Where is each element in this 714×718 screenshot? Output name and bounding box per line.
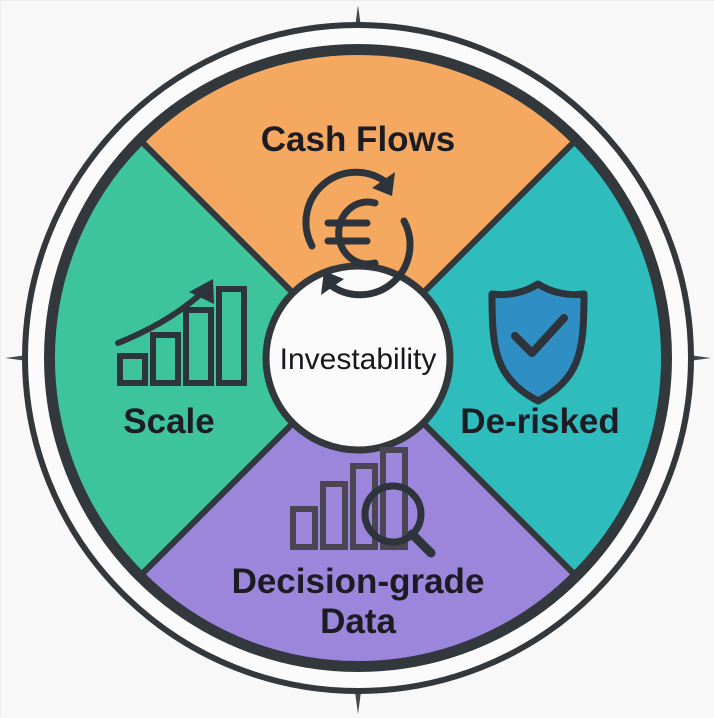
wheel-diagram: Investability (1, 1, 714, 718)
segment-label-decision-grade-data: Decision-grade (232, 562, 485, 601)
segment-label-scale: Scale (123, 402, 214, 441)
segment-label-de-risked: De-risked (460, 402, 620, 441)
investability-wheel-figure: Investability (0, 0, 714, 717)
segment-label-cash-flows: Cash Flows (261, 120, 455, 159)
center-label: Investability (280, 343, 437, 376)
segment-label-decision-grade-data-line2: Data (320, 602, 396, 641)
